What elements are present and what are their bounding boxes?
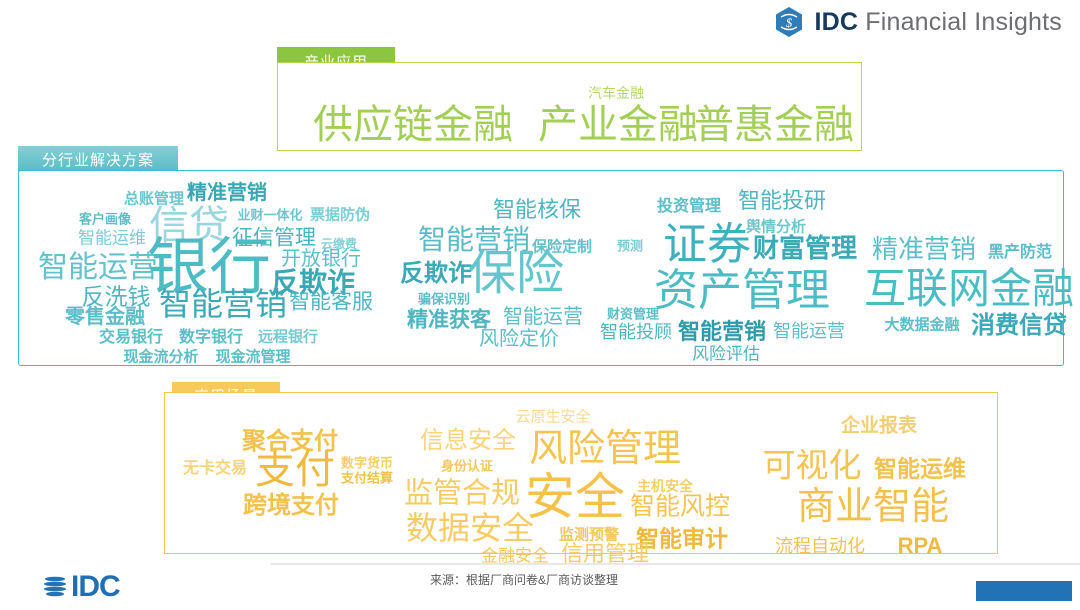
cloud-word: 证券 <box>663 223 751 267</box>
cloud-word: 产业金融 <box>538 105 698 145</box>
brand-name-rest: Financial Insights <box>858 8 1062 36</box>
cloud-word: 主机安全 <box>637 479 693 493</box>
cloud-word: 智能运维 <box>78 230 146 247</box>
brand-header: $ IDC Financial Insights <box>774 6 1062 38</box>
cloud-word: 消费信贷 <box>971 314 1067 338</box>
cloud-word: 精准营销 <box>872 236 976 262</box>
section-tag-industry-solutions: 分行业解决方案 <box>18 146 178 172</box>
source-note: 来源：根据厂商问卷&厂商访谈整理 <box>430 571 618 588</box>
cloud-word: 智能风控 <box>630 495 730 520</box>
cloud-word: 监管合规 <box>404 480 520 509</box>
cloud-word: 智能客服 <box>289 292 373 313</box>
wordcloud-application-scenarios: 聚合支付无卡交易支付数字货币支付结算跨境支付云原生安全信息安全风险管理身份认证监… <box>165 393 997 553</box>
cloud-word: 身份认证 <box>441 460 493 473</box>
cloud-word: 交易银行 <box>99 330 163 346</box>
section-panel-industry-solutions: 总账管理精准营销客户画像信贷业财一体化票据防伪智能运维征信管理云缴费智能运营银行… <box>18 170 1064 366</box>
cloud-word: 信息安全 <box>420 429 516 453</box>
section-panel-industry-application: 供应链金融汽车金融产业金融普惠金融 <box>277 62 862 151</box>
cloud-word: 汽车金融 <box>588 86 644 100</box>
cloud-word: 智能运营 <box>38 253 158 283</box>
cloud-word: 风险管理 <box>529 430 681 468</box>
cloud-word: 现金流管理 <box>215 350 290 365</box>
cloud-word: RPA <box>898 535 943 557</box>
cloud-word: 无卡交易 <box>183 461 247 477</box>
cloud-word: 零售金融 <box>65 307 145 327</box>
cloud-word: 数字货币 <box>341 457 393 470</box>
cloud-word: 票据防伪 <box>310 208 370 223</box>
cloud-word: 远程银行 <box>258 330 318 345</box>
cloud-word: 企业报表 <box>841 417 917 436</box>
cloud-word: 金融安全 <box>481 548 549 565</box>
cloud-word: 智能运营 <box>773 322 845 340</box>
cloud-word: 现金流分析 <box>123 350 198 365</box>
cloud-word: 跨境支付 <box>243 494 339 518</box>
svg-text:$: $ <box>786 15 793 30</box>
cloud-word: 智能运营 <box>503 307 583 327</box>
brand-name: IDC Financial Insights <box>814 8 1062 37</box>
cloud-word: 智能投顾 <box>600 323 672 341</box>
cloud-word: 预测 <box>617 240 643 253</box>
cloud-word: 智能审计 <box>636 528 728 551</box>
cloud-word: 骗保识别 <box>418 293 470 306</box>
cloud-word: 支付结算 <box>341 472 393 485</box>
cloud-word: 大数据金融 <box>884 318 959 333</box>
cloud-word: 反欺诈 <box>400 262 472 286</box>
cloud-word: 资产管理 <box>654 269 830 313</box>
cloud-word: 信用管理 <box>561 543 649 565</box>
cloud-word: 精准营销 <box>187 183 267 203</box>
cloud-word: 业财一体化 <box>237 209 302 222</box>
cloud-word: 商业智能 <box>797 488 949 526</box>
section-panel-application-scenarios: 聚合支付无卡交易支付数字货币支付结算跨境支付云原生安全信息安全风险管理身份认证监… <box>164 392 998 554</box>
cloud-word: 财资管理 <box>607 308 659 321</box>
cloud-word: 普惠金融 <box>694 105 854 145</box>
cloud-word: 数字银行 <box>179 330 243 346</box>
cloud-word: 开放银行 <box>281 249 361 269</box>
corner-accent-block <box>976 581 1072 601</box>
cloud-word: 可视化 <box>763 449 862 482</box>
cloud-word: 财富管理 <box>753 235 857 261</box>
cloud-word: 智能营销 <box>678 321 766 343</box>
cloud-word: 客户画像 <box>79 213 131 226</box>
idc-footer-logo: IDC <box>42 570 120 604</box>
brand-name-bold: IDC <box>814 8 858 36</box>
cloud-word: 安全 <box>525 472 625 522</box>
idc-hex-logo-icon: $ <box>774 6 804 38</box>
cloud-word: 云原生安全 <box>515 410 590 425</box>
wordcloud-industry-solutions: 总账管理精准营销客户画像信贷业财一体化票据防伪智能运维征信管理云缴费智能运营银行… <box>19 171 1063 365</box>
cloud-word: 供应链金融 <box>313 105 513 145</box>
cloud-word: 风险评估 <box>692 346 760 363</box>
cloud-word: 智能运维 <box>874 458 966 481</box>
cloud-word: 风险定价 <box>479 329 559 349</box>
cloud-word: 数据安全 <box>406 512 534 544</box>
cloud-word: 支付 <box>255 450 335 490</box>
cloud-word: 智能核保 <box>493 199 581 221</box>
cloud-word: 智能投研 <box>738 190 826 212</box>
cloud-word: 保险 <box>468 250 564 298</box>
idc-footer-wordmark: IDC <box>71 570 120 604</box>
slide-canvas: $ IDC Financial Insights 产业应用 供应链金融汽车金融产… <box>0 0 1080 608</box>
cloud-word: 投资管理 <box>657 199 721 215</box>
wordcloud-industry-application: 供应链金融汽车金融产业金融普惠金融 <box>278 63 861 150</box>
idc-stripes-icon <box>42 574 68 600</box>
cloud-word: 黑产防范 <box>988 245 1052 261</box>
cloud-word: 流程自动化 <box>775 537 865 555</box>
cloud-word: 互联网金融 <box>864 268 1074 310</box>
cloud-word: 智能营销 <box>159 288 287 320</box>
